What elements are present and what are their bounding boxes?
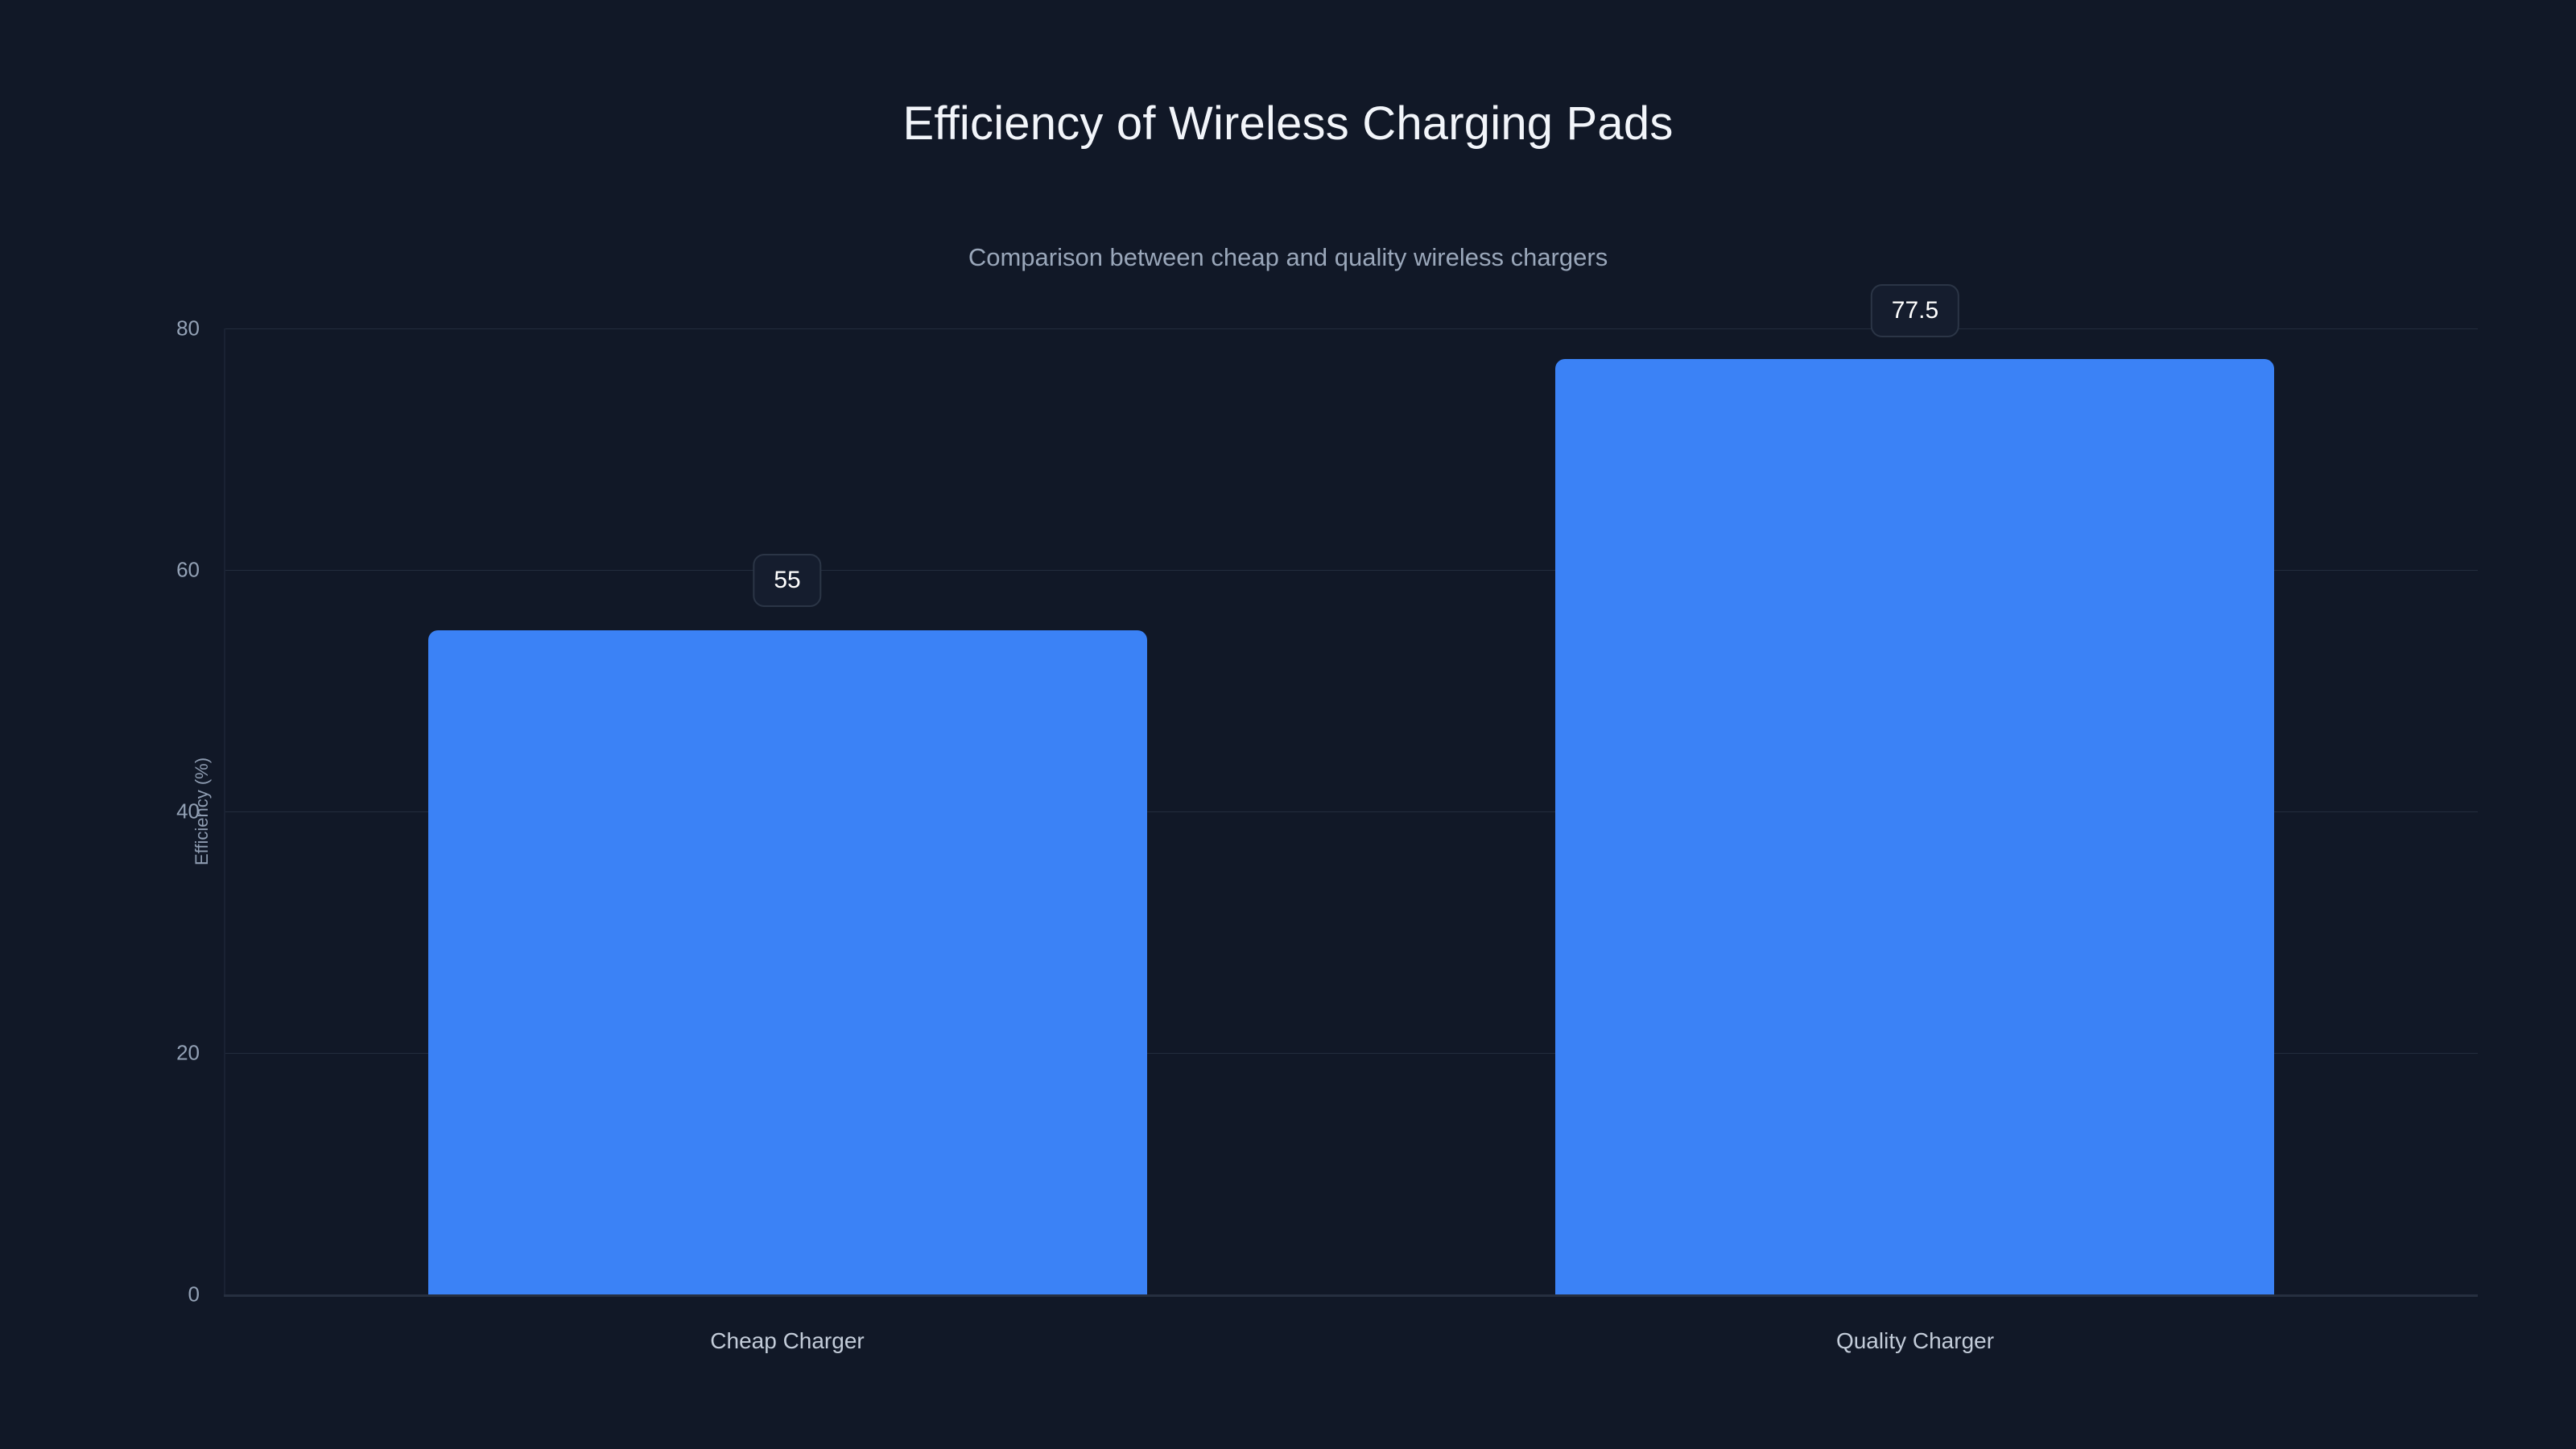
gridline-80 xyxy=(224,328,2478,329)
chart-subtitle: Comparison between cheap and quality wir… xyxy=(0,243,2576,272)
value-label-cheap-charger: 55 xyxy=(753,554,821,607)
page-title: Efficiency of Wireless Charging Pads xyxy=(0,97,2576,151)
y-tick-40: 40 xyxy=(97,799,200,824)
x-tick-cheap-charger: Cheap Charger xyxy=(710,1328,864,1354)
x-tick-quality-charger: Quality Charger xyxy=(1836,1328,1994,1354)
y-tick-0: 0 xyxy=(97,1282,200,1307)
y-axis-line xyxy=(224,328,225,1294)
x-axis-line xyxy=(224,1294,2478,1297)
value-label-quality-charger: 77.5 xyxy=(1871,284,1959,337)
bar-quality-charger[interactable] xyxy=(1555,359,2274,1294)
bar-cheap-charger[interactable] xyxy=(428,630,1147,1294)
y-tick-20: 20 xyxy=(97,1041,200,1066)
chart-canvas: Efficiency of Wireless Charging Pads Com… xyxy=(0,0,2576,1449)
y-tick-60: 60 xyxy=(97,558,200,583)
y-tick-80: 80 xyxy=(97,316,200,341)
